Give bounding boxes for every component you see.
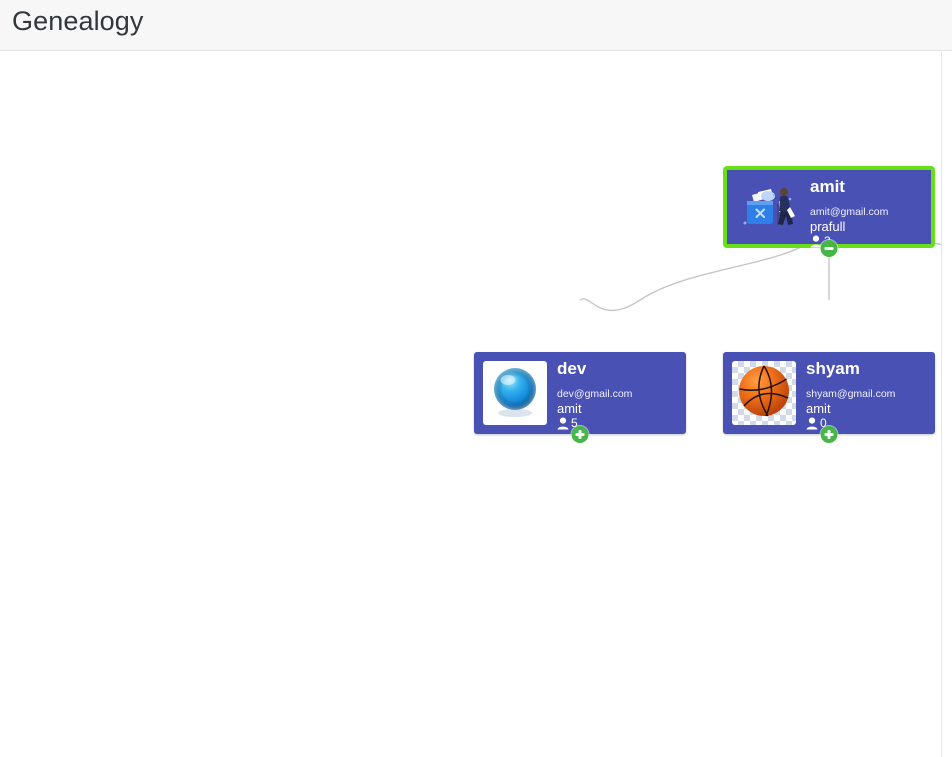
genealogy-canvas[interactable]: amit amit@gmail.com prafull 3 [0, 52, 941, 757]
plus-icon-vertical [828, 430, 831, 439]
person-icon [557, 417, 569, 430]
node-parent: amit [806, 401, 926, 416]
expand-node-button[interactable] [821, 426, 838, 443]
node-email: amit@gmail.com [810, 206, 922, 219]
blue-sphere-icon [487, 363, 543, 424]
expand-node-button[interactable] [572, 426, 589, 443]
person-icon [806, 417, 818, 430]
vertical-scrollbar[interactable] [941, 52, 952, 757]
avatar [732, 361, 796, 425]
node-parent: prafull [810, 219, 922, 234]
illustration-person-folder-icon [738, 183, 798, 240]
minus-icon [825, 247, 834, 250]
avatar [736, 179, 800, 243]
basketball-icon [736, 363, 792, 424]
avatar [483, 361, 547, 425]
app-header: Genealogy [0, 0, 952, 51]
collapse-node-button[interactable] [821, 240, 838, 257]
node-parent: amit [557, 401, 677, 416]
node-card-amit[interactable]: amit amit@gmail.com prafull 3 [723, 166, 935, 248]
page-title: Genealogy [12, 6, 144, 37]
node-name: dev [557, 359, 677, 378]
node-email: shyam@gmail.com [806, 388, 926, 401]
node-card-shyam[interactable]: shyam shyam@gmail.com amit 0 [723, 352, 935, 434]
plus-icon-vertical [579, 430, 582, 439]
node-email: dev@gmail.com [557, 388, 677, 401]
node-name: amit [810, 177, 922, 196]
node-card-dev[interactable]: dev dev@gmail.com amit 5 [474, 352, 686, 434]
node-name: shyam [806, 359, 926, 378]
